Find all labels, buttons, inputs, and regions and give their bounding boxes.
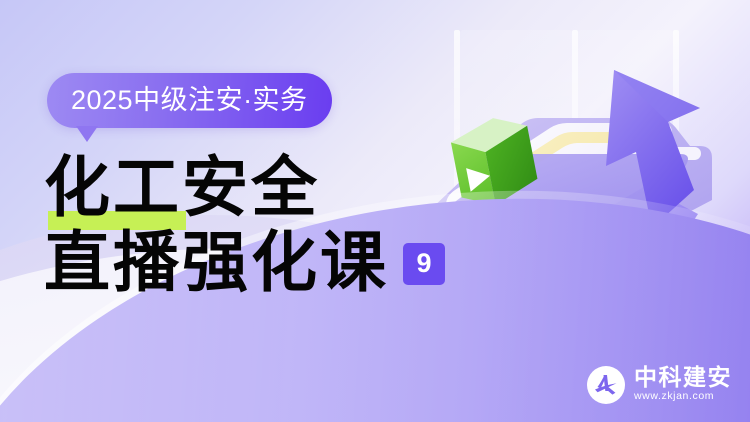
topic-badge[interactable]: 2025中级注安·实务 bbox=[47, 73, 332, 128]
title-block: 化工安全 直播强化课 9 bbox=[44, 152, 474, 301]
logo-website-url: www.zkjan.com bbox=[634, 390, 732, 404]
topic-badge-tail bbox=[76, 126, 98, 142]
logo-company-name: 中科建安 bbox=[634, 365, 732, 389]
episode-badge: 9 bbox=[403, 243, 445, 285]
zk-circle-logo-icon bbox=[587, 366, 625, 404]
logo-text-block: 中科建安 www.zkjan.com bbox=[634, 365, 732, 404]
brand-logo[interactable]: 中科建安 www.zkjan.com bbox=[587, 365, 732, 404]
title-line-2-wrapper: 直播强化课 9 bbox=[44, 227, 474, 302]
title-line-1-wrapper: 化工安全 bbox=[44, 152, 474, 227]
title-line-2: 直播强化课 bbox=[44, 227, 389, 302]
topic-badge-label: 2025中级注安·实务 bbox=[71, 87, 308, 114]
course-poster: 2025中级注安·实务 化工安全 直播强化课 9 中科建安 www.zkjan.… bbox=[0, 0, 750, 422]
title-line-1: 化工安全 bbox=[44, 152, 320, 225]
